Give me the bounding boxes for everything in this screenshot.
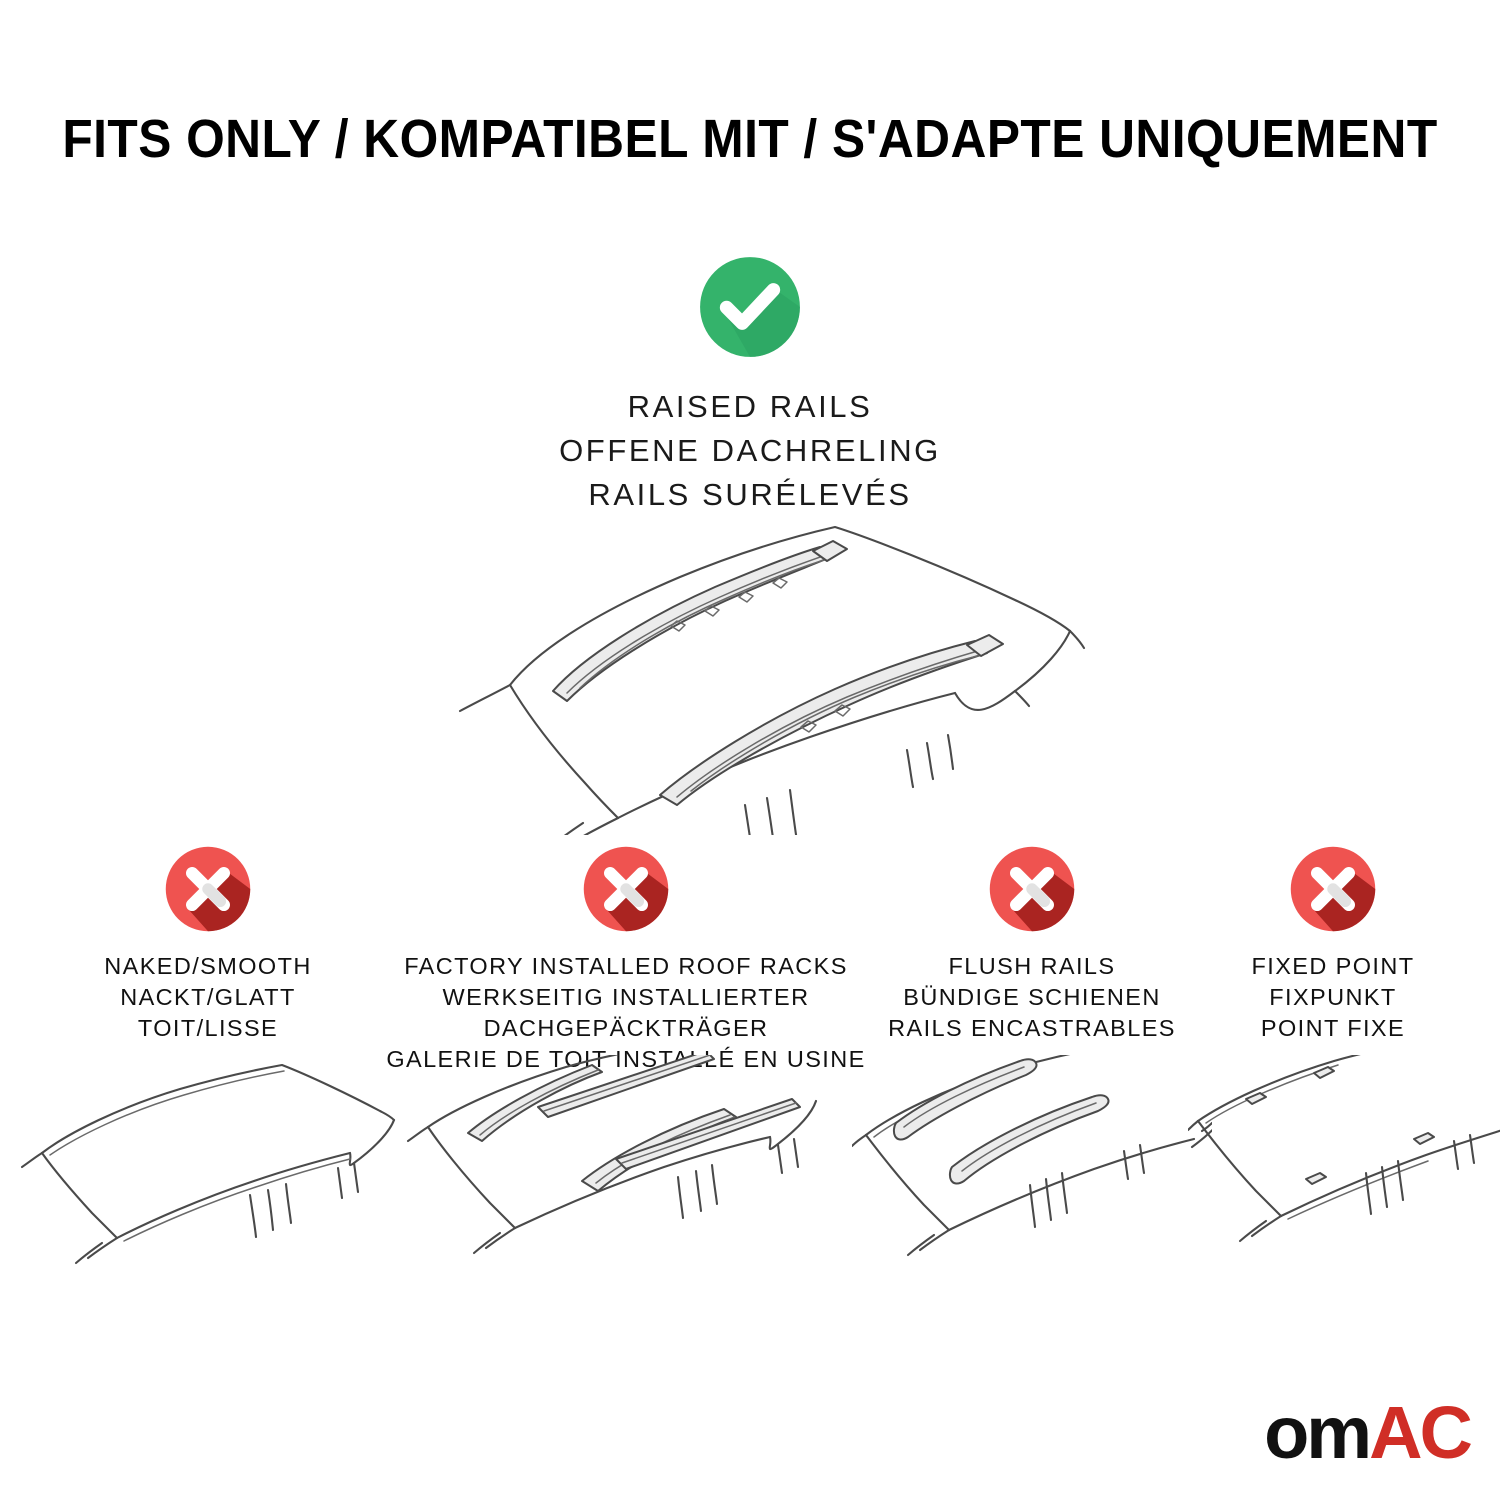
incompatible-label-en: FLUSH RAILS xyxy=(888,951,1176,982)
red-x-circle-icon xyxy=(988,845,1076,933)
approved-label-group: RAISED RAILS OFFENE DACHRELING RAILS SUR… xyxy=(559,385,941,517)
car-roof-flush-rails-illustration xyxy=(852,1055,1212,1295)
green-check-circle-icon xyxy=(698,255,802,359)
incompatible-label-de-1: WERKSEITIG INSTALLIERTER xyxy=(386,982,865,1013)
car-roof-factory-rack-illustration xyxy=(406,1055,846,1295)
incompatible-label-group: NAKED/SMOOTH NACKT/GLATT TOIT/LISSE xyxy=(104,951,311,1044)
incompatible-item-fixed-point: FIXED POINT FIXPUNKT POINT FIXE xyxy=(1188,845,1478,1044)
incompatible-label-en: FIXED POINT xyxy=(1252,951,1415,982)
car-roof-raised-rails-illustration xyxy=(415,505,1095,835)
page-title: FITS ONLY / KOMPATIBEL MIT / S'ADAPTE UN… xyxy=(60,108,1440,170)
logo-text-dark: om xyxy=(1264,1391,1369,1474)
car-roof-fixed-point-illustration xyxy=(1188,1055,1478,1295)
incompatible-label-en: FACTORY INSTALLED ROOF RACKS xyxy=(386,951,865,982)
incompatible-item-flush-rails: FLUSH RAILS BÜNDIGE SCHIENEN RAILS ENCAS… xyxy=(852,845,1212,1044)
incompatible-row: NAKED/SMOOTH NACKT/GLATT TOIT/LISSE xyxy=(0,845,1500,1485)
red-x-circle-icon xyxy=(582,845,670,933)
incompatible-label-de-2: DACHGEPÄCKTRÄGER xyxy=(386,1013,865,1044)
incompatible-label-group: FLUSH RAILS BÜNDIGE SCHIENEN RAILS ENCAS… xyxy=(888,951,1176,1044)
red-x-circle-icon xyxy=(1289,845,1377,933)
approved-fitment-block: RAISED RAILS OFFENE DACHRELING RAILS SUR… xyxy=(0,255,1500,517)
incompatible-label-de: BÜNDIGE SCHIENEN xyxy=(888,982,1176,1013)
incompatible-label-fr: POINT FIXE xyxy=(1252,1013,1415,1044)
incompatible-label-en: NAKED/SMOOTH xyxy=(104,951,311,982)
approved-label-de: OFFENE DACHRELING xyxy=(559,429,941,473)
incompatible-label-fr: TOIT/LISSE xyxy=(104,1013,311,1044)
incompatible-label-de: FIXPUNKT xyxy=(1252,982,1415,1013)
red-x-circle-icon xyxy=(164,845,252,933)
logo-text-red: AC xyxy=(1369,1391,1470,1474)
incompatible-item-factory-rack: FACTORY INSTALLED ROOF RACKS WERKSEITIG … xyxy=(406,845,846,1075)
car-roof-naked-smooth-illustration xyxy=(20,1055,396,1295)
incompatible-label-group: FIXED POINT FIXPUNKT POINT FIXE xyxy=(1252,951,1415,1044)
approved-label-en: RAISED RAILS xyxy=(559,385,941,429)
incompatible-item-naked-smooth: NAKED/SMOOTH NACKT/GLATT TOIT/LISSE xyxy=(20,845,396,1044)
incompatible-label-fr: RAILS ENCASTRABLES xyxy=(888,1013,1176,1044)
omac-logo: omAC xyxy=(1264,1396,1470,1470)
incompatible-label-de: NACKT/GLATT xyxy=(104,982,311,1013)
